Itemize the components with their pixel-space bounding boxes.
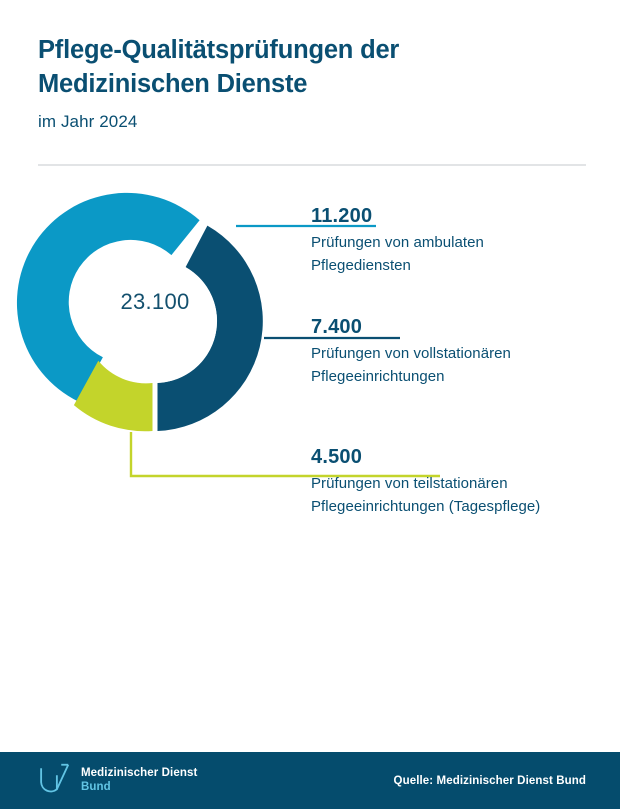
callout-desc-ambulante: Prüfungen von ambulaten Pflegediensten: [311, 232, 611, 278]
footer-logo-text: Medizinischer Dienst Bund: [81, 767, 197, 794]
footer-logo-line-1: Medizinischer Dienst: [81, 767, 197, 781]
callout-desc-teilstationaer: Prüfungen von teilstationären Pflegeeinr…: [311, 473, 620, 519]
callout-desc-vollstationaer-line-1: Prüfungen von vollstationären: [311, 343, 611, 366]
page-title-line-2: Medizinischen Dienste: [38, 68, 586, 102]
callout-ambulante: 11.200 Prüfungen von ambulaten Pflegedie…: [311, 206, 611, 278]
callout-value-ambulante: 11.200: [311, 206, 611, 227]
page-title-line-1: Pflege-Qualitätsprüfungen der: [38, 34, 586, 68]
footer-logo: Medizinischer Dienst Bund: [38, 763, 197, 798]
callout-desc-vollstationaer: Prüfungen von vollstationären Pflegeeinr…: [311, 343, 611, 389]
donut-center-total: 23.100: [45, 282, 265, 322]
callout-teilstationaer: 4.500 Prüfungen von teilstationären Pfle…: [311, 447, 620, 519]
callout-value-vollstationaer: 7.400: [311, 317, 611, 338]
callout-desc-teilstationaer-line-2: Pflegeeinrichtungen (Tagespflege): [311, 496, 620, 519]
infographic-root: Pflege-Qualitätsprüfungen der Medizinisc…: [0, 0, 620, 809]
footer-source: Quelle: Medizinischer Dienst Bund: [394, 752, 586, 809]
callout-desc-teilstationaer-line-1: Prüfungen von teilstationären: [311, 473, 620, 496]
callout-desc-vollstationaer-line-2: Pflegeeinrichtungen: [311, 366, 611, 389]
callout-desc-ambulante-line-1: Prüfungen von ambulaten: [311, 232, 611, 255]
header: Pflege-Qualitätsprüfungen der Medizinisc…: [38, 34, 586, 132]
callout-vollstationaer: 7.400 Prüfungen von vollstationären Pfle…: [311, 317, 611, 389]
page-subtitle: im Jahr 2024: [38, 112, 586, 132]
callout-value-teilstationaer: 4.500: [311, 447, 620, 468]
callout-desc-ambulante-line-2: Pflegediensten: [311, 255, 611, 278]
checkmark-logo-icon: [38, 763, 74, 798]
header-divider: [38, 164, 586, 166]
page-title: Pflege-Qualitätsprüfungen der Medizinisc…: [38, 34, 586, 101]
footer-logo-line-2: Bund: [81, 781, 197, 795]
footer: Medizinischer Dienst Bund Quelle: Medizi…: [0, 752, 620, 809]
